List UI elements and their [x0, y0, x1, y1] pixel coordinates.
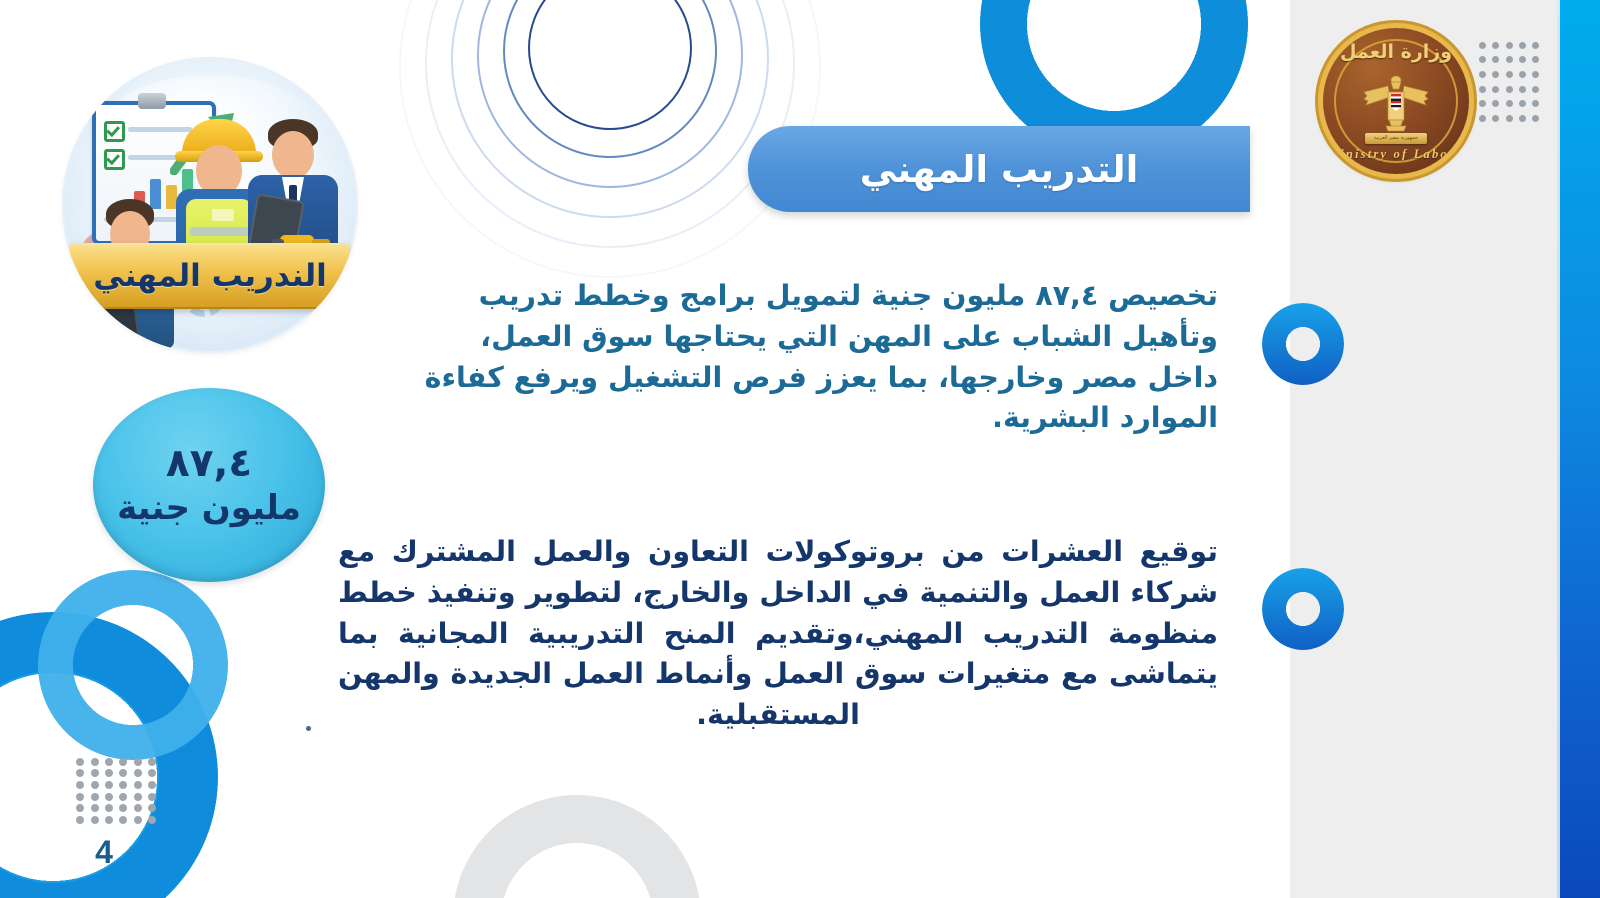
amount-badge: ٨٧,٤ مليون جنية [93, 388, 325, 582]
sidebar-ring-marker-1 [1262, 303, 1344, 385]
dot-grid-decoration-top [1476, 38, 1542, 126]
logo-plate-text: جمهورية مصر العربية [1365, 133, 1427, 144]
amount-value: ٨٧,٤ [166, 443, 252, 484]
logo-english-text: Ministry of Labour [1323, 147, 1469, 162]
text-speck-decoration [306, 726, 311, 731]
checkbox-icon-1 [104, 121, 125, 142]
page-number: 4 [84, 834, 124, 871]
gray-ring-decoration-bottom [452, 794, 702, 898]
slide-canvas: وزارة العمل جمهورية مصر العربية Minis [0, 0, 1600, 898]
logo-arabic-text: وزارة العمل [1323, 41, 1469, 63]
ribbon-label: الندريب المهني [93, 258, 326, 294]
paragraph-funding: تخصيص ٨٧,٤ مليون جنية لتمويل برامج وخطط … [418, 276, 1218, 439]
page-title: التدريب المهني [860, 148, 1139, 191]
clipboard-clip-icon [138, 93, 166, 109]
sidebar-ring-marker-2 [1262, 568, 1344, 650]
amount-unit: مليون جنية [117, 489, 301, 527]
right-edge-gradient-bar [1560, 0, 1600, 898]
paragraph-protocols: توقيع العشرات من بروتوكولات التعاون والع… [338, 532, 1218, 736]
slide-title-banner: التدريب المهني [748, 126, 1250, 212]
ministry-of-labour-logo: وزارة العمل جمهورية مصر العربية Minis [1323, 28, 1469, 174]
checkbox-icon-2 [104, 149, 125, 170]
eagle-of-saladin-icon [1358, 70, 1434, 138]
vocational-training-illustration: الندريب المهني [62, 57, 358, 353]
dot-grid-decoration-bottom [73, 756, 159, 826]
sidebar-notch [1274, 0, 1290, 232]
blue-ring-decoration-bottom-left-small [38, 570, 228, 760]
illustration-ribbon: الندريب المهني [70, 243, 350, 309]
